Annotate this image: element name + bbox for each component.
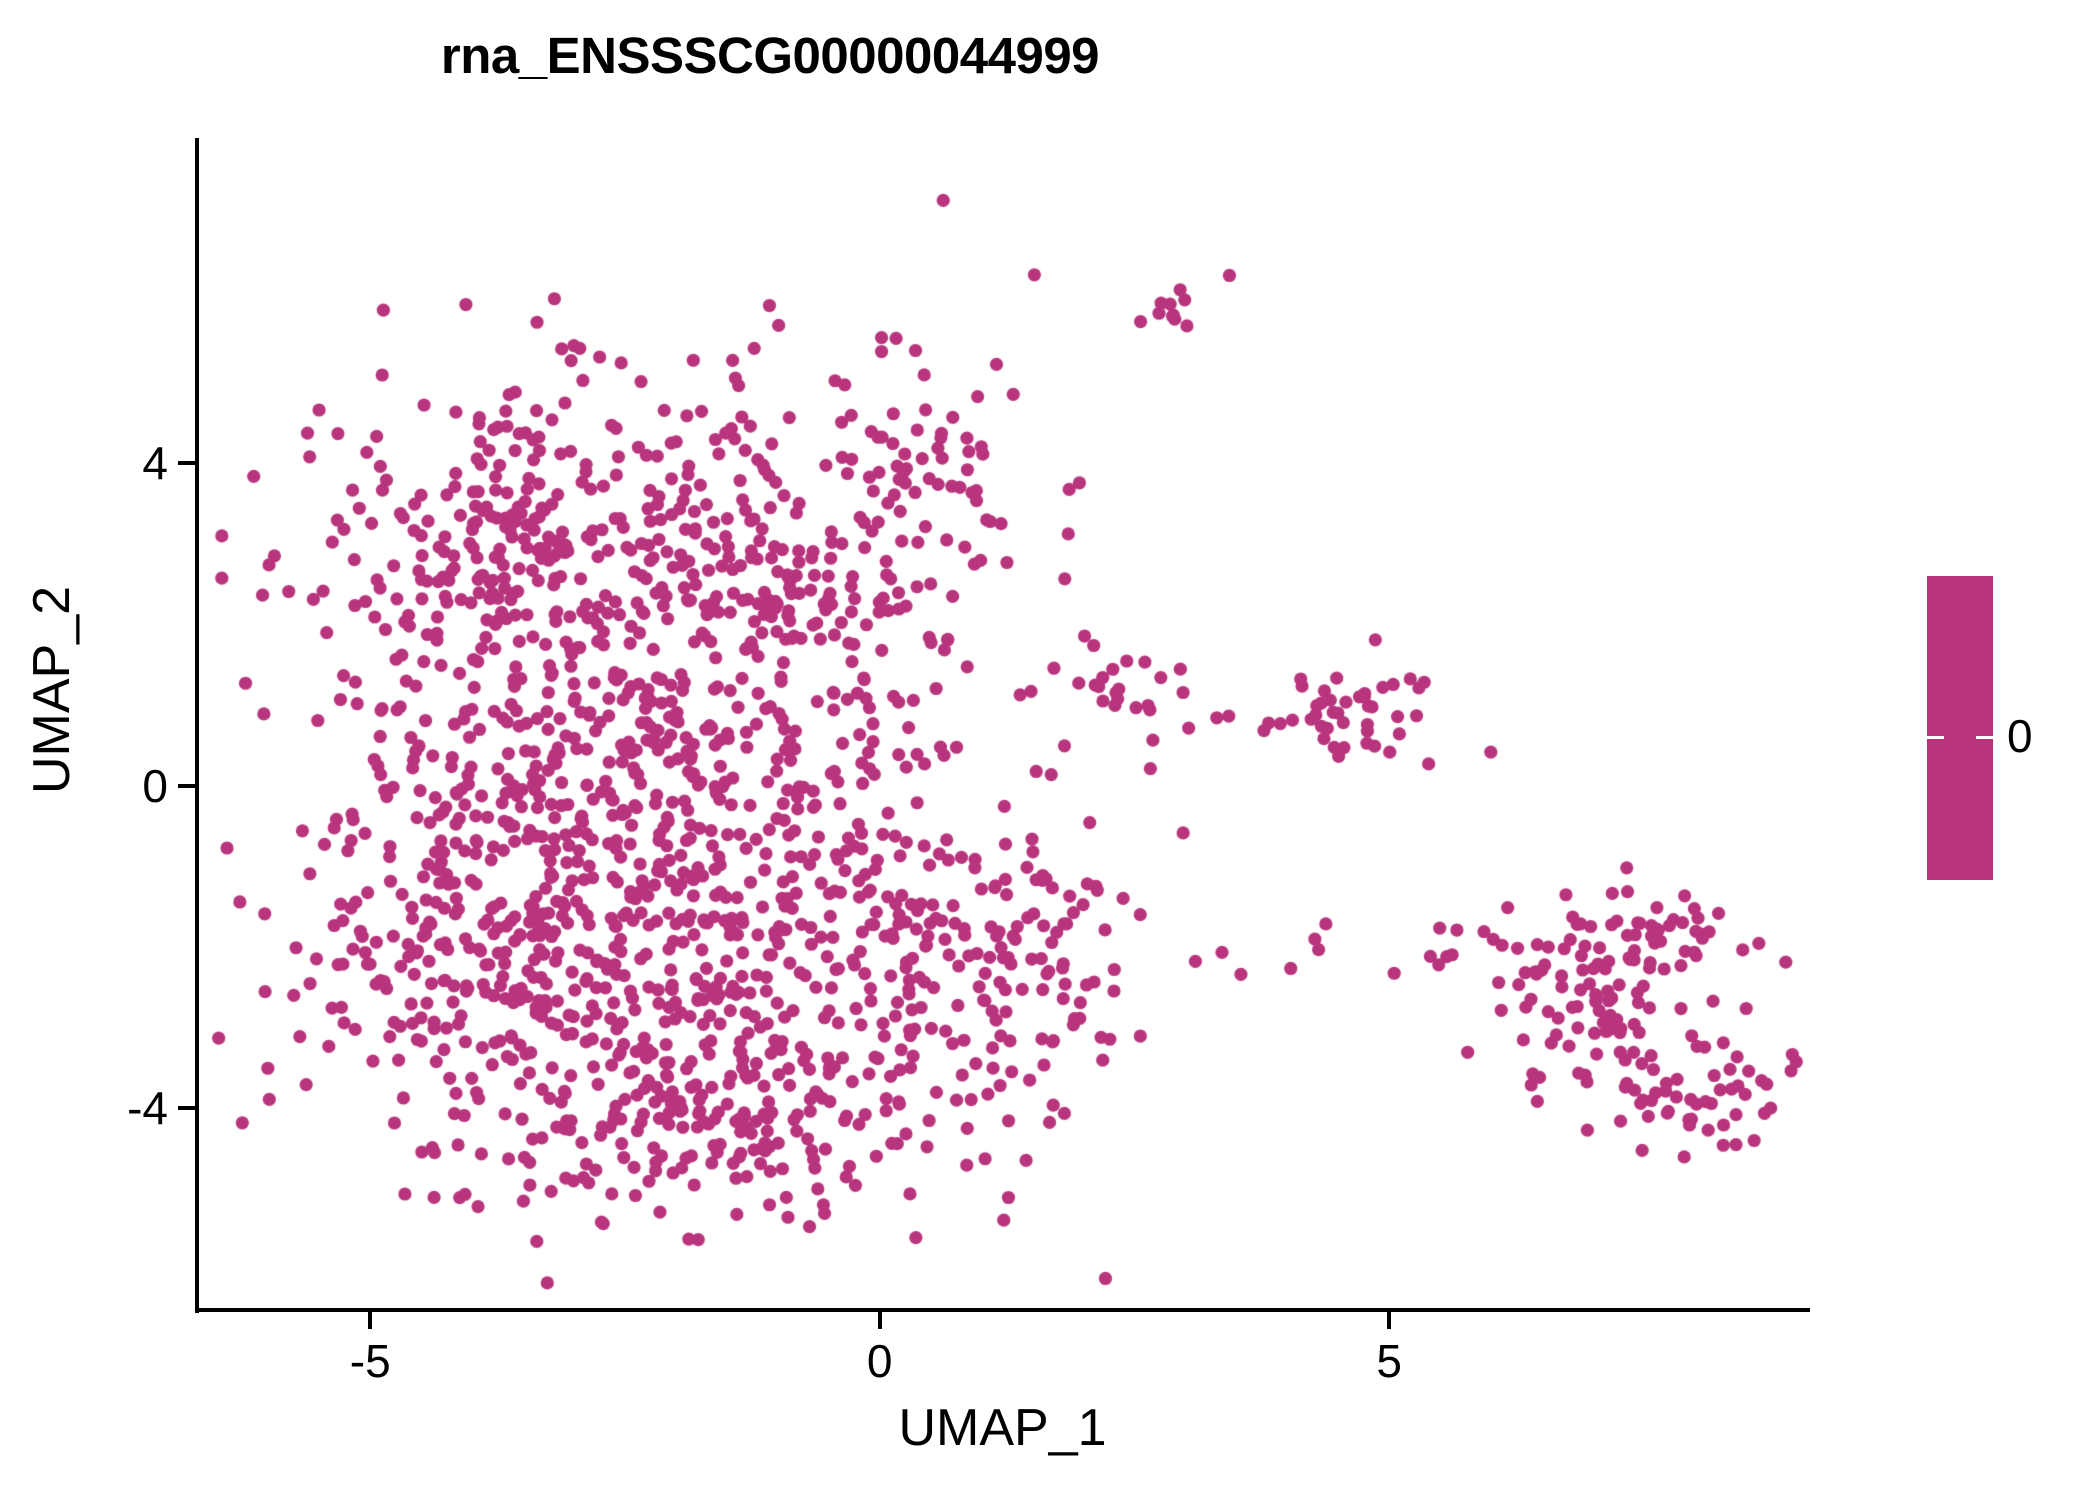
y-tick-label: -4: [127, 1081, 168, 1135]
y-tick-label: 0: [142, 759, 168, 813]
x-tick-label: 5: [1376, 1334, 1402, 1388]
x-axis-line: [195, 1308, 1810, 1312]
x-axis-title: UMAP_1: [195, 1398, 1810, 1458]
colorbar-tick-label: 0: [2007, 709, 2033, 763]
x-tick-mark: [1387, 1312, 1391, 1329]
y-tick-mark: [178, 784, 195, 788]
plot-panel: [197, 140, 1807, 1310]
umap-feature-plot: rna_ENSSSCG00000044999 40-4 -505 UMAP_2 …: [0, 0, 2100, 1500]
colorbar-gradient: [1927, 576, 1993, 880]
y-axis-line: [195, 138, 199, 1313]
x-tick-label: -5: [350, 1334, 391, 1388]
y-tick-mark: [178, 1106, 195, 1110]
y-axis-title: UMAP_2: [22, 410, 82, 970]
x-tick-label: 0: [867, 1334, 893, 1388]
y-tick-label: 4: [142, 436, 168, 490]
legend-colorbar-group[interactable]: 0: [1927, 576, 2087, 886]
x-tick-mark: [368, 1312, 372, 1329]
page-title: rna_ENSSSCG00000044999: [0, 26, 1540, 85]
colorbar-tick-left: [1927, 736, 1944, 739]
y-tick-mark: [178, 461, 195, 465]
x-tick-mark: [878, 1312, 882, 1329]
colorbar-tick-right: [1976, 736, 1993, 739]
scatter-points-layer: [197, 140, 1807, 1310]
